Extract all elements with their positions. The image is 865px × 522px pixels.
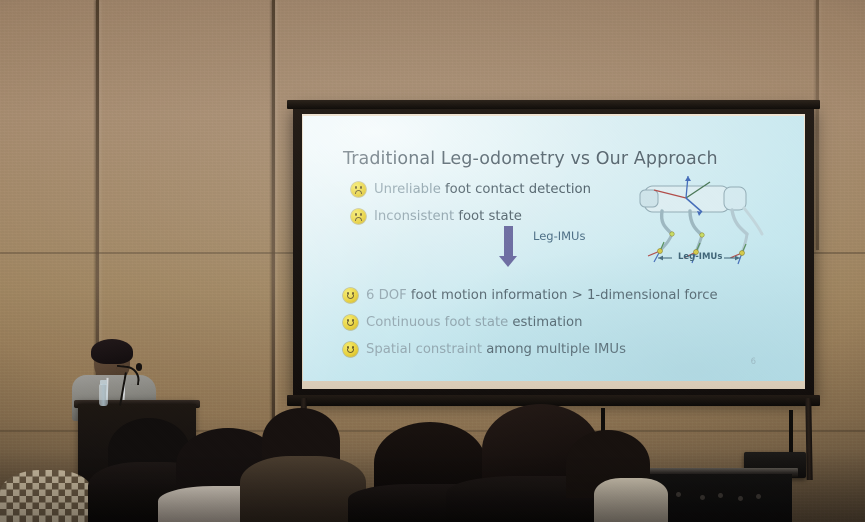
bullet-lead: 6 DOF	[366, 288, 407, 303]
microphone-capsule	[136, 363, 142, 371]
happy-face-icon	[343, 288, 358, 303]
bullet-item: Continuous foot state estimation	[343, 315, 793, 330]
bullet-lead: Spatial constraint	[366, 342, 482, 357]
bullet-rest: estimation	[508, 315, 582, 330]
water-bottle	[99, 384, 108, 406]
down-arrow-icon	[504, 226, 513, 256]
bullet-rest: among multiple IMUs	[482, 342, 626, 357]
bullet-item: 6 DOF foot motion information > 1-dimens…	[343, 288, 793, 303]
bullet-rest: foot motion information > 1-dimensional …	[407, 288, 718, 303]
projector-control-panel	[660, 492, 770, 512]
down-arrow-head-icon	[499, 256, 517, 267]
sad-face-icon	[351, 182, 366, 197]
arrow-label: Leg-IMUs	[533, 229, 585, 243]
presenter-hair	[91, 339, 133, 364]
transition-arrow-group: Leg-IMUs	[499, 226, 517, 267]
audience-member-patterned-garment	[0, 470, 92, 522]
bullet-lead: Continuous foot state	[366, 315, 508, 330]
solution-bullet-list: 6 DOF foot motion information > 1-dimens…	[343, 288, 793, 369]
bullet-lead: Unreliable	[374, 182, 441, 197]
robot-figure-annotation: Leg-IMUs	[678, 252, 722, 262]
happy-face-icon	[343, 342, 358, 357]
quadruped-robot-diagram: Leg-IMUs	[628, 168, 793, 288]
happy-face-icon	[343, 315, 358, 330]
bullet-text: Continuous foot state estimation	[366, 315, 582, 330]
projection-screen: Traditional Leg-odometry vs Our Approach…	[293, 104, 814, 399]
screen-top-rail	[287, 100, 820, 109]
projected-slide: Traditional Leg-odometry vs Our Approach…	[303, 116, 804, 381]
presentation-photo-scene: Traditional Leg-odometry vs Our Approach…	[0, 0, 865, 522]
bullet-lead: Inconsistent	[374, 209, 454, 224]
bullet-item: Spatial constraint among multiple IMUs	[343, 342, 793, 357]
bullet-rest: foot state	[454, 209, 522, 224]
bullet-rest: foot contact detection	[441, 182, 591, 197]
bullet-text: Unreliable foot contact detection	[374, 182, 591, 197]
audience-member-shoulders	[594, 478, 668, 522]
slide-title: Traditional Leg-odometry vs Our Approach	[343, 149, 718, 169]
bullet-text: Spatial constraint among multiple IMUs	[366, 342, 626, 357]
slide-page-number: 6	[751, 357, 756, 367]
sad-face-icon	[351, 209, 366, 224]
bullet-text: Inconsistent foot state	[374, 209, 522, 224]
bullet-text: 6 DOF foot motion information > 1-dimens…	[366, 288, 718, 303]
